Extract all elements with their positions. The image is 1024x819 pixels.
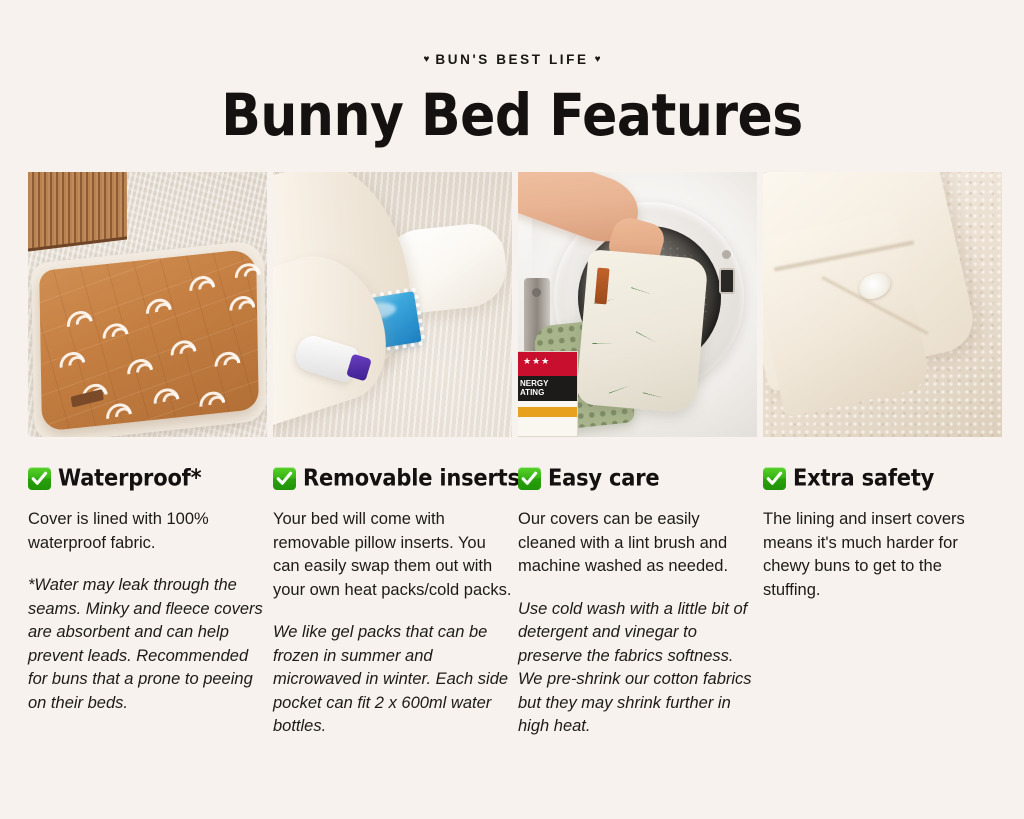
feature-column-easy-care: ★★★ NERGY ATING Easy care <box>518 172 757 739</box>
check-mark-icon <box>273 467 296 490</box>
feature-column-removable-inserts: Removable inserts Your bed will come wit… <box>273 172 512 739</box>
photo-washing-machine: ★★★ NERGY ATING <box>518 172 757 437</box>
photo-bunny-bed <box>28 172 267 437</box>
check-mark-icon <box>28 467 51 490</box>
page-title: Bunny Bed Features <box>0 81 1024 150</box>
feature-body: Your bed will come with removable pillow… <box>273 508 512 602</box>
feature-heading-waterproof: Waterproof* <box>28 467 267 490</box>
energy-stars: ★★★ <box>523 356 550 367</box>
feature-column-waterproof: Waterproof* Cover is lined with 100% wat… <box>28 172 267 739</box>
feature-title: Waterproof* <box>58 466 201 491</box>
energy-label-footer <box>518 407 577 417</box>
feature-body: The lining and insert covers means it's … <box>763 508 1002 602</box>
heart-ornament-left: ♥ <box>423 54 429 65</box>
feature-note: *Water may leak through the seams. Minky… <box>28 574 267 715</box>
energy-label-line1: NERGY <box>520 379 574 388</box>
palm-frond <box>636 305 689 352</box>
kicker-text: BUN'S BEST LIFE <box>435 52 588 67</box>
photo-liner-closeup <box>763 172 1002 437</box>
feature-heading-removable-inserts: Removable inserts <box>273 467 512 490</box>
feature-columns: Waterproof* Cover is lined with 100% wat… <box>28 172 996 739</box>
feature-title: Extra safety <box>793 466 934 491</box>
feature-note: Use cold wash with a little bit of deter… <box>518 598 757 739</box>
palm-print-cover <box>575 249 708 414</box>
heart-ornament-right: ♥ <box>595 54 601 65</box>
palm-frond <box>643 364 693 403</box>
control-knob <box>722 250 731 259</box>
energy-label-header: ★★★ <box>518 352 577 376</box>
control-panel <box>719 268 735 294</box>
infographic-page: ♥BUN'S BEST LIFE♥ Bunny Bed Features <box>0 0 1024 819</box>
energy-label-title: NERGY ATING <box>518 376 577 401</box>
feature-column-extra-safety: Extra safety The lining and insert cover… <box>763 172 1002 739</box>
bunny-bed <box>39 248 259 431</box>
kicker: ♥BUN'S BEST LIFE♥ <box>0 52 1024 67</box>
palm-frond <box>592 313 637 344</box>
feature-heading-easy-care: Easy care <box>518 467 757 490</box>
check-mark-icon <box>763 467 786 490</box>
check-mark-icon <box>518 467 541 490</box>
photo-removable-inserts <box>273 172 512 437</box>
feature-title: Removable inserts <box>303 466 520 491</box>
feature-body: Cover is lined with 100% waterproof fabr… <box>28 508 267 555</box>
energy-rating-label: ★★★ NERGY ATING <box>518 351 578 437</box>
energy-label-line2: ATING <box>520 388 574 397</box>
feature-note: We like gel packs that can be frozen in … <box>273 621 512 739</box>
palm-frond <box>599 350 651 394</box>
wooden-cabinet <box>28 172 127 252</box>
feature-heading-extra-safety: Extra safety <box>763 467 1002 490</box>
palm-frond <box>631 259 682 301</box>
feature-body: Our covers can be easily cleaned with a … <box>518 508 757 579</box>
feature-title: Easy care <box>548 466 659 491</box>
